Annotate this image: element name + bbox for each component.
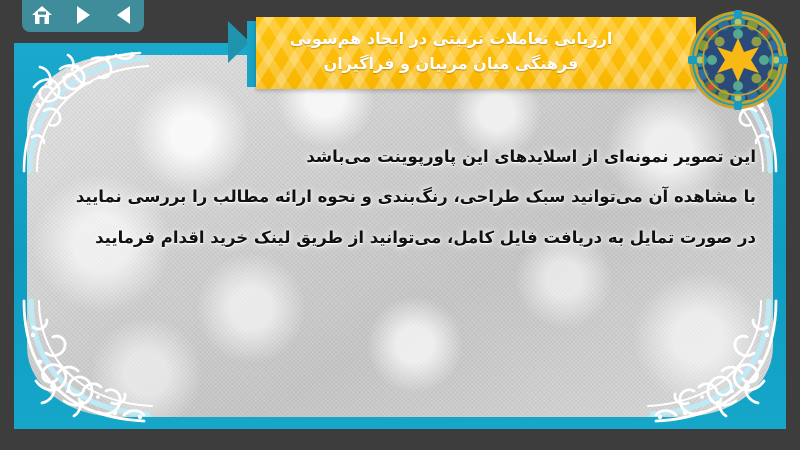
next-arrow-icon bbox=[77, 6, 90, 24]
title-bar: ارزیابی تعاملات تربیتی در ایجاد هم‌سویی … bbox=[256, 17, 696, 89]
previous-slide-button[interactable] bbox=[110, 3, 138, 27]
slide-frame: این تصویر نمونه‌ای از اسلایدهای این پاور… bbox=[14, 43, 786, 429]
navigation-toolbar bbox=[22, 0, 144, 32]
home-button[interactable] bbox=[28, 3, 56, 27]
persian-rosette-medallion-icon bbox=[686, 8, 790, 112]
page-title-line-2: فرهنگی میان مربیان و فراگیران bbox=[324, 52, 579, 77]
slide-canvas: این تصویر نمونه‌ای از اسلایدهای این پاور… bbox=[0, 0, 800, 450]
page-title-line-1: ارزیابی تعاملات تربیتی در ایجاد هم‌سویی bbox=[290, 27, 613, 52]
next-slide-button[interactable] bbox=[69, 3, 97, 27]
home-icon bbox=[31, 5, 53, 25]
body-line-1: این تصویر نمونه‌ای از اسلایدهای این پاور… bbox=[54, 137, 756, 177]
slide-title-banner: ارزیابی تعاملات تربیتی در ایجاد هم‌سویی … bbox=[228, 17, 696, 89]
previous-arrow-icon bbox=[117, 6, 130, 24]
body-line-2: با مشاهده آن می‌توانید سبک طراحی، رنگ‌بن… bbox=[54, 177, 756, 217]
slide-body-text: این تصویر نمونه‌ای از اسلایدهای این پاور… bbox=[54, 137, 756, 258]
body-line-3: در صورت تمایل به دریافت فایل کامل، می‌تو… bbox=[54, 218, 756, 258]
